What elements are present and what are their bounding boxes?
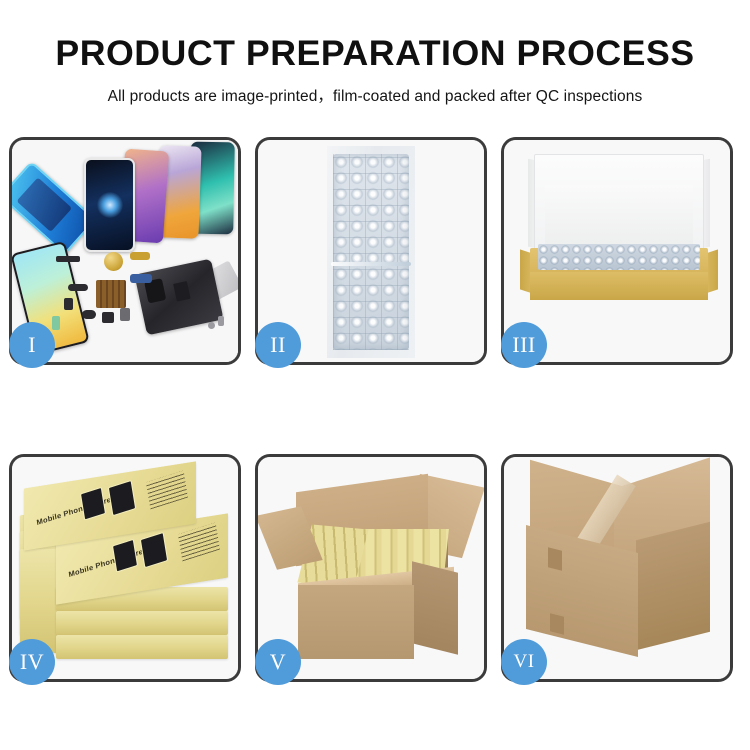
carton-handle-notch-icon	[548, 547, 562, 570]
screw-icon	[208, 322, 215, 329]
connector-part-icon	[68, 284, 88, 291]
sealed-carton-side-face-icon	[636, 522, 710, 650]
process-step-5[interactable]: V	[255, 454, 487, 682]
button-part-icon	[52, 316, 60, 330]
carton-handle-notch-icon	[550, 613, 564, 634]
chip-module-icon	[96, 280, 126, 308]
vibration-coil-icon	[104, 252, 123, 271]
process-step-3[interactable]: III	[501, 137, 733, 365]
carton-front-face-icon	[298, 585, 414, 659]
process-step-grid: I II III	[9, 137, 741, 682]
step-badge-4: IV	[9, 639, 55, 685]
step-badge-5: V	[255, 639, 301, 685]
battery-part-icon	[102, 312, 114, 323]
page-header: PRODUCT PREPARATION PROCESS All products…	[0, 0, 750, 106]
screwdriver-bit-icon	[218, 316, 224, 326]
camera-module-icon	[82, 310, 96, 319]
stacked-box-right	[56, 611, 228, 635]
sim-tray-icon	[120, 308, 130, 321]
process-step-4[interactable]: Mobile Phone Spare Parts Mobile Phone Sp…	[9, 454, 241, 682]
box-stack-icon: Mobile Phone Spare Parts Mobile Phone Sp…	[20, 469, 234, 669]
mailer-tray-front-icon	[530, 272, 708, 300]
speaker-part-icon	[56, 256, 80, 262]
process-step-2[interactable]: II	[255, 137, 487, 365]
process-step-6[interactable]: VI	[501, 454, 733, 682]
flex-cable-gold-icon	[130, 252, 150, 260]
step-badge-2: II	[255, 322, 301, 368]
phone-screen-dark-icon	[84, 158, 135, 252]
step-badge-6: VI	[501, 639, 547, 685]
flex-cable-blue-icon	[130, 274, 152, 283]
mailer-bubble-contents-icon	[538, 244, 700, 270]
mailer-lid-icon	[534, 154, 704, 254]
carton-side-face-icon	[412, 561, 458, 654]
bubble-wrap-bubbles-icon	[333, 154, 409, 350]
bubble-wrap-seam-icon	[331, 262, 411, 266]
stacked-box-right	[56, 635, 228, 659]
small-part-icon	[64, 298, 73, 310]
step-badge-1: I	[9, 322, 55, 368]
step-badge-3: III	[501, 322, 547, 368]
page-title: PRODUCT PREPARATION PROCESS	[0, 36, 750, 73]
process-step-1[interactable]: I	[9, 137, 241, 365]
page-subtitle: All products are image-printed，film-coat…	[0, 84, 750, 106]
